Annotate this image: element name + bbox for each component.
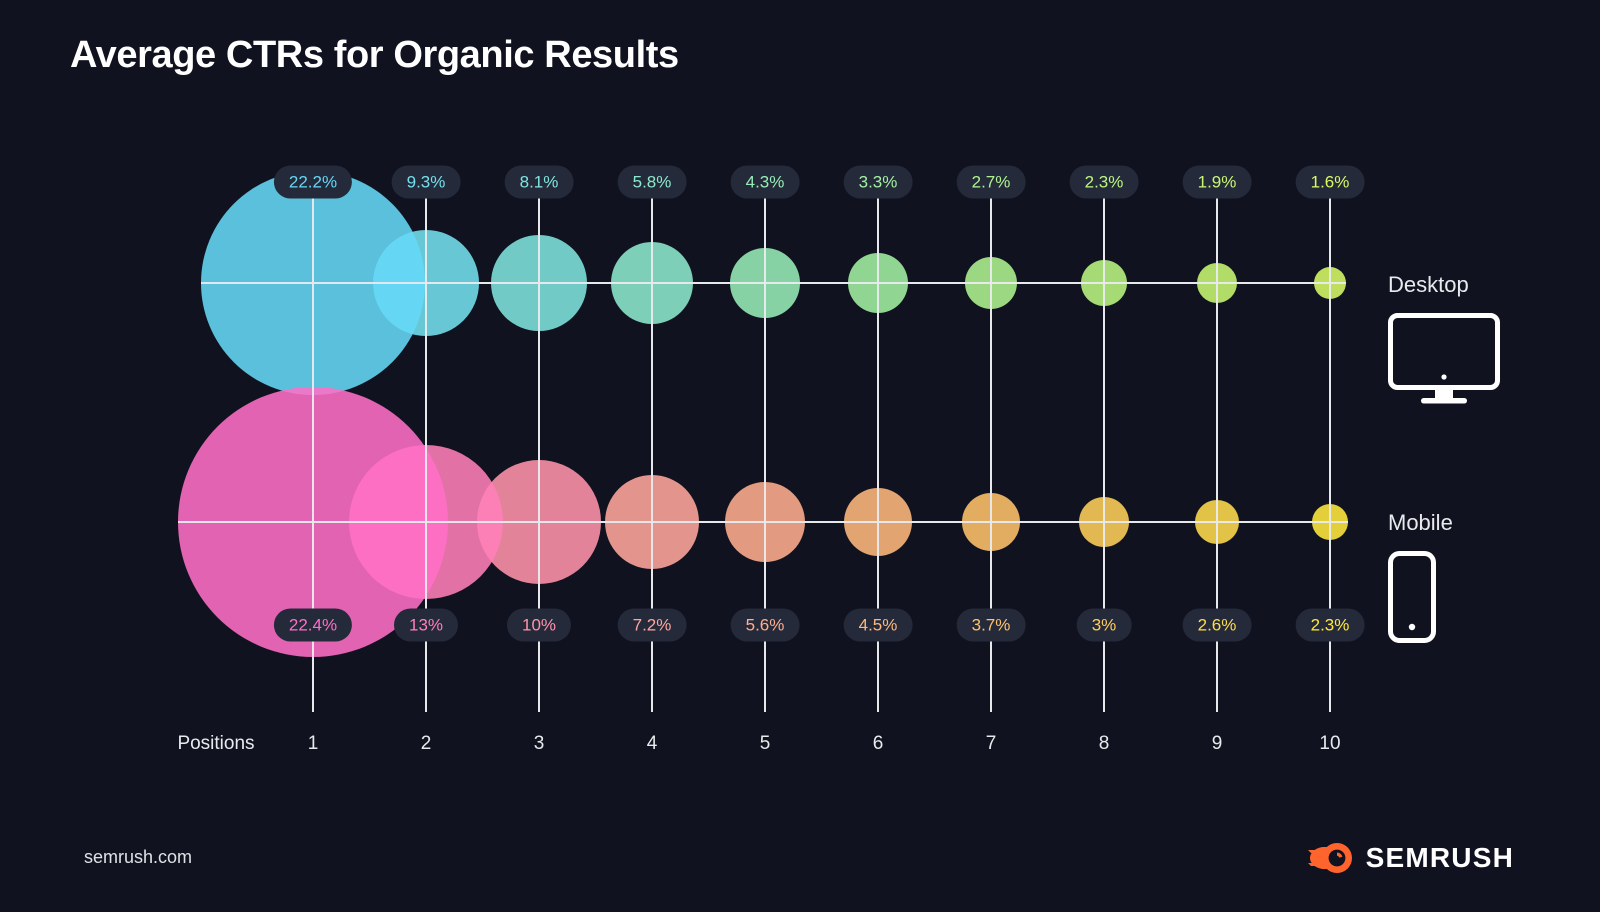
value-pill: 4.3% <box>731 166 800 199</box>
value-pill: 2.7% <box>957 166 1026 199</box>
bubble <box>844 488 912 556</box>
bubble <box>730 248 800 318</box>
value-pill: 22.4% <box>274 609 352 642</box>
axis-tick-1: 1 <box>308 733 319 755</box>
bubble <box>201 171 425 395</box>
axis-tick-10: 10 <box>1319 733 1340 755</box>
smartphone-icon <box>1388 551 1436 648</box>
axis-tick-5: 5 <box>760 733 771 755</box>
bubble <box>1079 497 1129 547</box>
value-pill: 3.7% <box>957 609 1026 642</box>
bubble <box>848 253 908 313</box>
page-title: Average CTRs for Organic Results <box>70 34 679 77</box>
value-pill: 5.6% <box>731 609 800 642</box>
bubble <box>491 235 587 331</box>
value-pill: 1.9% <box>1183 166 1252 199</box>
value-pill: 2.3% <box>1296 609 1365 642</box>
bubble <box>605 475 699 569</box>
axis-tick-7: 7 <box>986 733 997 755</box>
axis-tick-3: 3 <box>534 733 545 755</box>
legend-label-mobile: Mobile <box>1388 510 1453 536</box>
axis-tick-6: 6 <box>873 733 884 755</box>
axis-tick-8: 8 <box>1099 733 1110 755</box>
bubble <box>725 482 805 562</box>
axis-tick-9: 9 <box>1212 733 1223 755</box>
bubble <box>1081 260 1127 306</box>
legend-label-desktop: Desktop <box>1388 272 1469 298</box>
value-pill: 10% <box>507 609 571 642</box>
monitor-icon <box>1388 313 1500 410</box>
bubble <box>349 445 503 599</box>
bubble <box>1195 500 1239 544</box>
axis-tick-4: 4 <box>647 733 658 755</box>
brand-name: SEMRUSH <box>1366 842 1514 874</box>
value-pill: 2.3% <box>1070 166 1139 199</box>
value-pill: 9.3% <box>392 166 461 199</box>
value-pill: 13% <box>394 609 458 642</box>
value-pill: 5.8% <box>618 166 687 199</box>
bubble <box>611 242 693 324</box>
axis-caption: Positions <box>177 733 254 755</box>
bubble <box>1197 263 1237 303</box>
semrush-logo: SEMRUSH <box>1308 841 1514 875</box>
bubble <box>373 230 479 336</box>
value-pill: 1.6% <box>1296 166 1365 199</box>
axis-tick-2: 2 <box>421 733 432 755</box>
bubble <box>965 257 1017 309</box>
bubble <box>1312 504 1348 540</box>
bubble <box>477 460 601 584</box>
semrush-comet-icon <box>1308 841 1354 875</box>
bubble-chart-plot <box>0 0 1600 912</box>
value-pill: 7.2% <box>618 609 687 642</box>
value-pill: 3% <box>1077 609 1132 642</box>
value-pill: 22.2% <box>274 166 352 199</box>
value-pill: 4.5% <box>844 609 913 642</box>
value-pill: 8.1% <box>505 166 574 199</box>
bubble <box>1314 267 1346 299</box>
footer-url: semrush.com <box>84 847 192 868</box>
infographic-canvas: Average CTRs for Organic Results 22.2%9.… <box>0 0 1600 912</box>
bubble <box>962 493 1020 551</box>
value-pill: 3.3% <box>844 166 913 199</box>
value-pill: 2.6% <box>1183 609 1252 642</box>
series-desktop <box>201 171 1346 395</box>
